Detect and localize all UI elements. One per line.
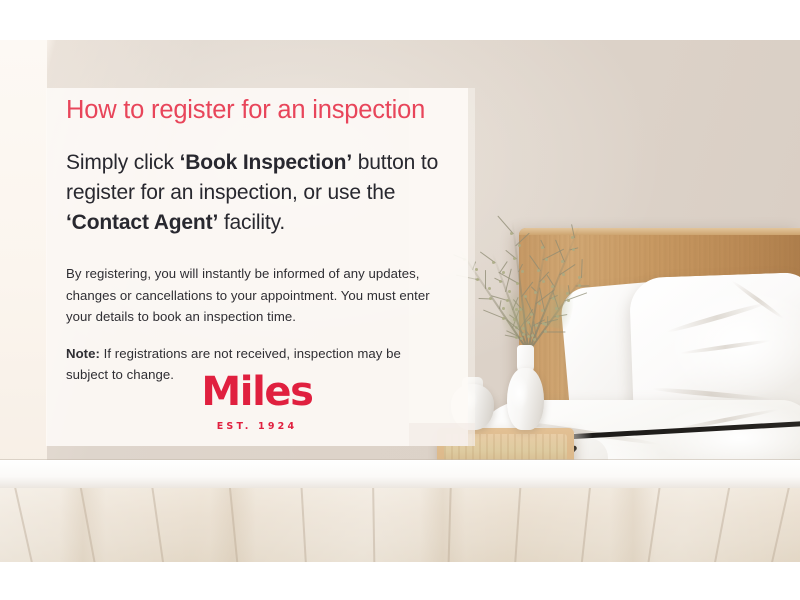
floor-grain: [610, 488, 656, 562]
branch-bud: [521, 270, 524, 273]
bed-headboard-top-edge: [519, 228, 800, 235]
pillow-crease: [680, 339, 772, 356]
branch-bud: [537, 269, 540, 272]
floor-grain: [210, 488, 256, 562]
intro-text-1: Simply click: [66, 151, 180, 174]
branch-bud: [572, 248, 575, 251]
branch-bud: [571, 236, 574, 239]
floor-grain: [420, 488, 466, 562]
branch-bud: [562, 273, 565, 276]
intro-text-3: facility.: [218, 211, 285, 234]
branch-bud: [475, 268, 478, 271]
info-card-content: How to register for an inspection Simply…: [66, 96, 458, 385]
branch-bud: [476, 278, 479, 281]
branch-bud: [510, 232, 513, 235]
contact-agent-label: ‘Contact Agent’: [66, 211, 218, 234]
registering-paragraph: By registering, you will instantly be in…: [66, 263, 444, 326]
floor-grain: [60, 488, 106, 562]
branch-twig: [485, 270, 486, 289]
screenshot-canvas: How to register for an inspection Simply…: [0, 0, 800, 600]
note-label: Note:: [66, 346, 100, 361]
page-title: How to register for an inspection: [66, 96, 458, 124]
pillow-crease: [666, 301, 767, 334]
branch-bud: [578, 284, 581, 287]
brand-logo: Miles EST. 1924: [46, 372, 468, 432]
intro-paragraph: Simply click ‘Book Inspection’ button to…: [66, 148, 458, 237]
branch-bud: [531, 334, 534, 337]
branch-bud: [542, 280, 545, 283]
tall-vase: [507, 368, 544, 430]
wall-left-bright-panel: [0, 40, 47, 472]
branch-bud: [527, 335, 530, 338]
branch-bud: [545, 258, 548, 261]
book-inspection-label: ‘Book Inspection’: [180, 151, 352, 174]
pillow-crease: [731, 279, 785, 320]
branch-bud: [538, 302, 541, 305]
branch-bud: [520, 337, 523, 340]
wood-floor: [0, 488, 800, 562]
skirting-board: [0, 460, 800, 490]
logo-tagline: EST. 1924: [46, 421, 468, 432]
floor-sheen: [0, 488, 800, 562]
registering-text: By registering, you will instantly be in…: [66, 266, 430, 323]
logo-wordmark: Miles: [46, 372, 468, 412]
branch-bud: [578, 276, 581, 279]
branch-bud: [534, 291, 537, 294]
branch-bud: [533, 338, 536, 341]
